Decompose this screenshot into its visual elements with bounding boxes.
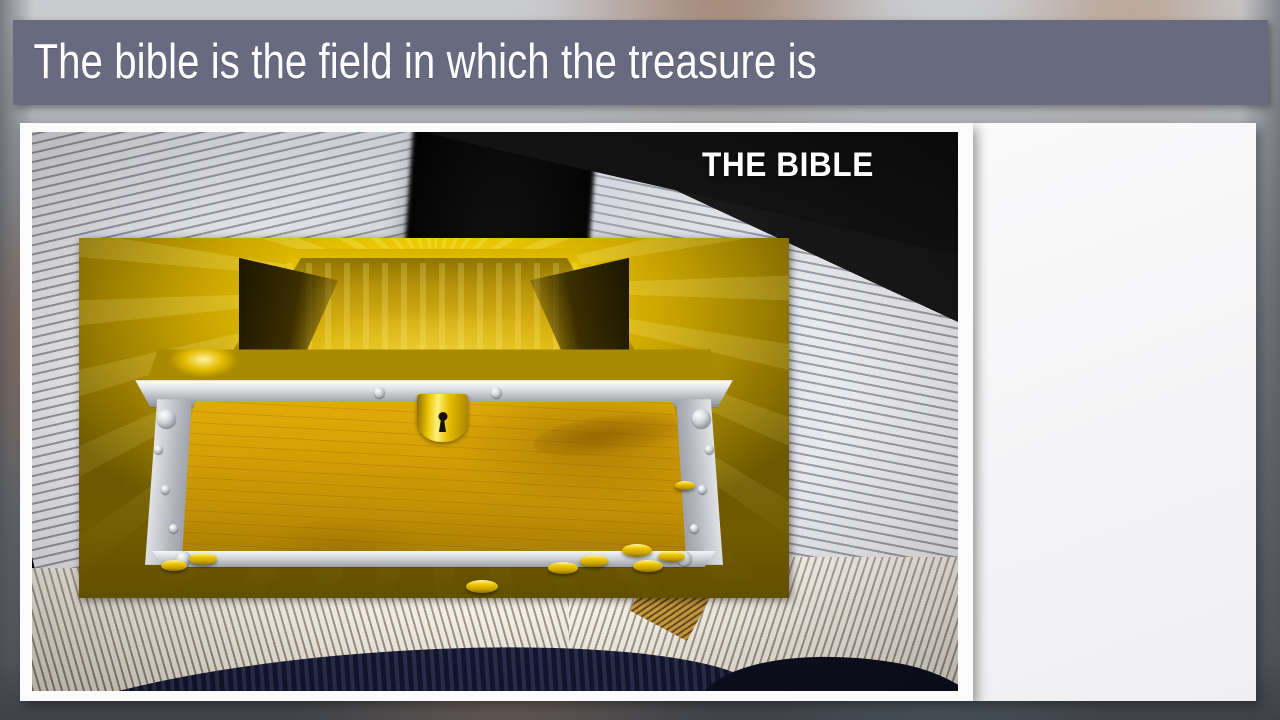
photo-headline: THE BIBLE (702, 144, 874, 187)
rivet-icon (491, 387, 502, 398)
rivet-icon (692, 409, 711, 428)
bible-photo: THE BIBLE (32, 132, 958, 691)
slide-card: THE BIBLE (20, 123, 973, 701)
slide-viewer: The bible is the field in which the trea… (0, 0, 1280, 720)
coin-icon (548, 562, 578, 574)
rivet-icon (374, 387, 385, 398)
rivet-icon (705, 445, 714, 454)
rivet-icon (157, 409, 176, 428)
coin-icon (658, 551, 685, 562)
coin-icon (189, 553, 217, 565)
slide-title-bar: The bible is the field in which the trea… (13, 20, 1268, 105)
coin-icon (622, 544, 652, 557)
coin-icon (161, 560, 187, 571)
chest-lock-plate (417, 394, 468, 443)
rivet-icon (161, 485, 170, 494)
rivet-icon (690, 524, 699, 533)
keyhole-icon (438, 412, 447, 421)
treasure-chest-image (79, 238, 789, 598)
slide-blank-area (973, 123, 1256, 701)
rivet-icon (698, 485, 707, 494)
page-title: The bible is the field in which the trea… (13, 38, 817, 87)
coin-icon (580, 555, 608, 567)
coin-icon (466, 580, 498, 593)
